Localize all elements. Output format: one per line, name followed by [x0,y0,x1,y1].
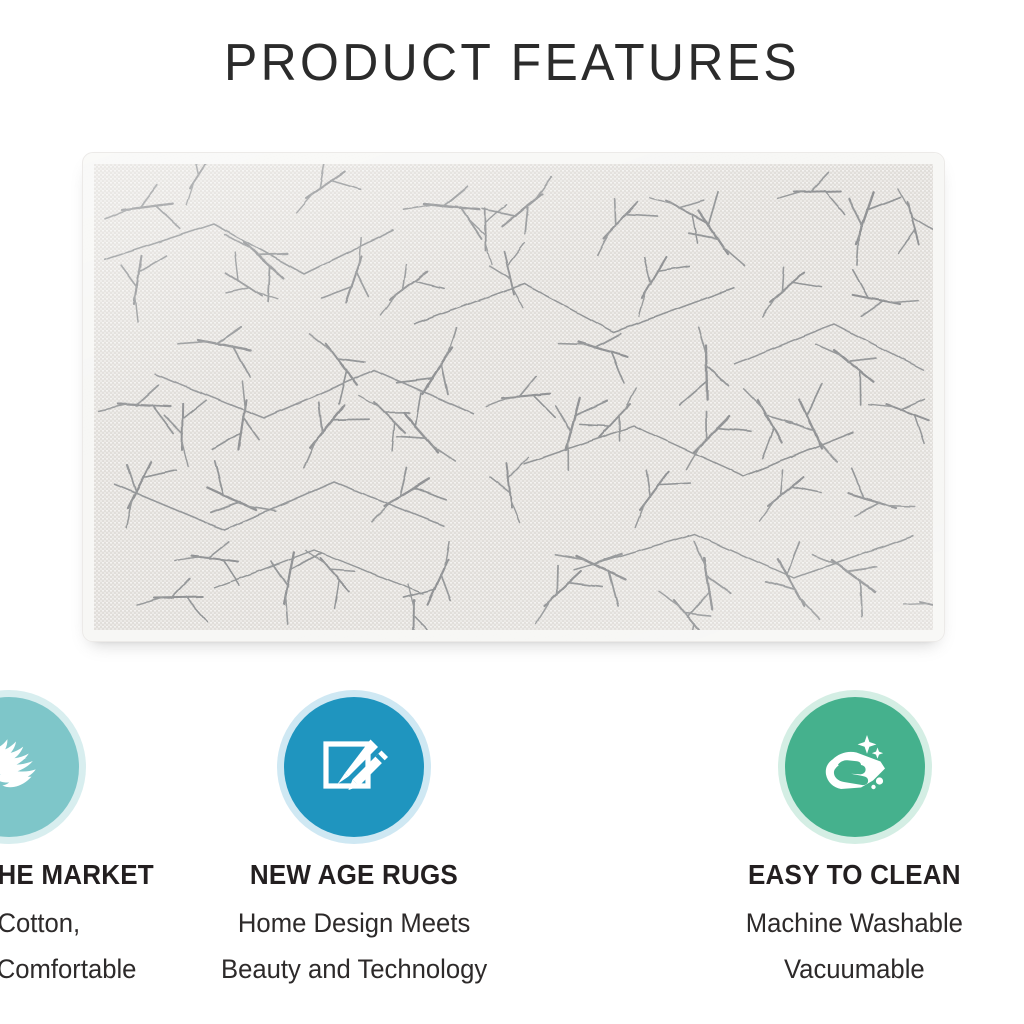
feature-heading: EASY TO CLEAN [748,859,961,891]
rug-pattern-field [94,164,933,630]
feature-heading: NEW AGE RUGS [250,859,458,891]
feature-item-easy-to-clean: EASY TO CLEAN Machine Washable Vacuumabl… [685,697,1024,992]
design-canvas-brush-pencil-icon [312,725,396,809]
feature-line: Vacuumable [746,946,963,992]
feature-line: %70 Cotton, [0,900,136,946]
product-image [82,152,945,642]
feature-item-new-age-rugs: NEW AGE RUGS Home Design Meets Beauty an… [185,697,524,992]
feature-line: Natural & Comfortable [0,946,136,992]
feature-item-first-in-the-market: FIRST IN THE MARKET %70 Cotton, Natural … [0,697,179,992]
feature-line: Beauty and Technology [221,946,487,992]
feature-line: Machine Washable [746,900,963,946]
page-title: PRODUCT FEATURES [20,33,1003,93]
feature-description: Home Design Meets Beauty and Technology [214,900,494,992]
rug-photo [82,152,945,642]
feature-list: FIRST IN THE MARKET %70 Cotton, Natural … [0,697,1024,992]
feather-badge [0,697,79,837]
feature-heading: FIRST IN THE MARKET [0,859,154,891]
feature-description: %70 Cotton, Natural & Comfortable [0,900,143,992]
design-badge [284,697,424,837]
rug-texture-svg [94,164,933,630]
feather-icon [0,724,52,810]
clean-badge [785,697,925,837]
hand-wiping-cloth-sparkle-icon [811,723,899,811]
feature-description: Machine Washable Vacuumable [740,900,969,992]
feature-line: Home Design Meets [221,900,487,946]
